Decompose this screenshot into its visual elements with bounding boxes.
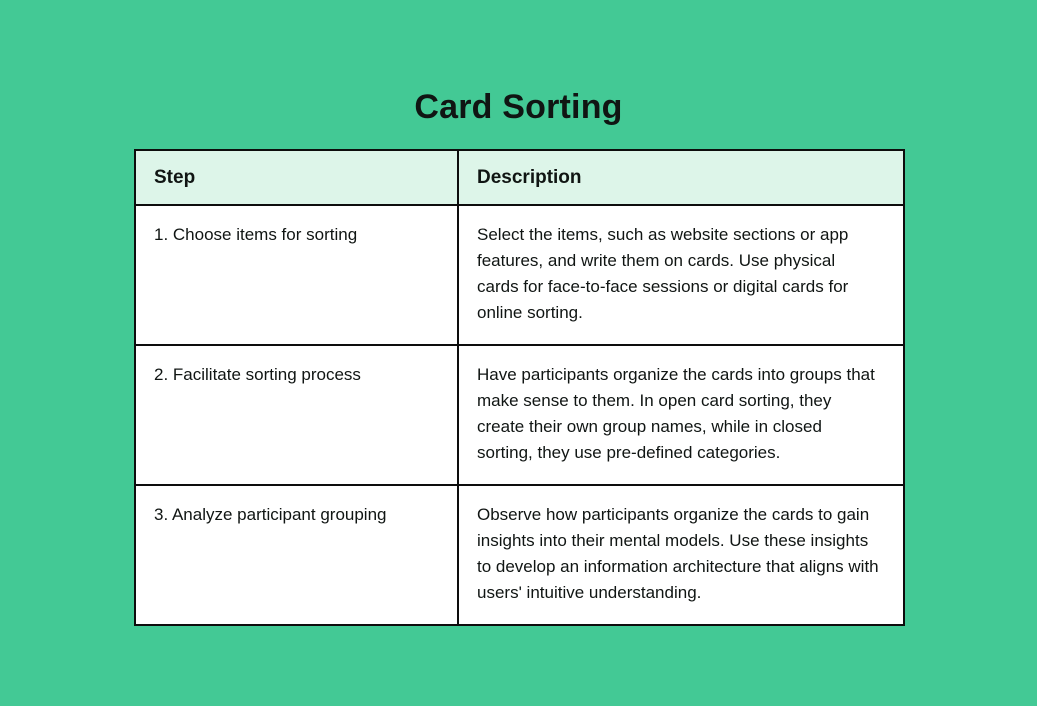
description-text: Observe how participants organize the ca… <box>477 502 881 606</box>
table-body: 1. Choose items for sorting Select the i… <box>135 205 904 625</box>
cell-description: Observe how participants organize the ca… <box>458 485 904 625</box>
table-header-row: Step Description <box>135 150 904 205</box>
cell-description: Select the items, such as website sectio… <box>458 205 904 345</box>
description-text: Select the items, such as website sectio… <box>477 222 881 326</box>
column-header-step: Step <box>135 150 458 205</box>
cell-step: 1. Choose items for sorting <box>135 205 458 345</box>
card-sorting-table: Step Description 1. Choose items for sor… <box>134 149 905 626</box>
cell-description: Have participants organize the cards int… <box>458 345 904 485</box>
cell-step: 2. Facilitate sorting process <box>135 345 458 485</box>
table-row: 3. Analyze participant grouping Observe … <box>135 485 904 625</box>
page-root: Card Sorting Step Description 1. Choose … <box>0 0 1037 706</box>
cell-step: 3. Analyze participant grouping <box>135 485 458 625</box>
table-row: 2. Facilitate sorting process Have parti… <box>135 345 904 485</box>
table-row: 1. Choose items for sorting Select the i… <box>135 205 904 345</box>
page-title: Card Sorting <box>0 85 1037 129</box>
description-text: Have participants organize the cards int… <box>477 362 881 466</box>
table-header: Step Description <box>135 150 904 205</box>
column-header-description: Description <box>458 150 904 205</box>
card-sorting-table-container: Step Description 1. Choose items for sor… <box>134 149 903 626</box>
